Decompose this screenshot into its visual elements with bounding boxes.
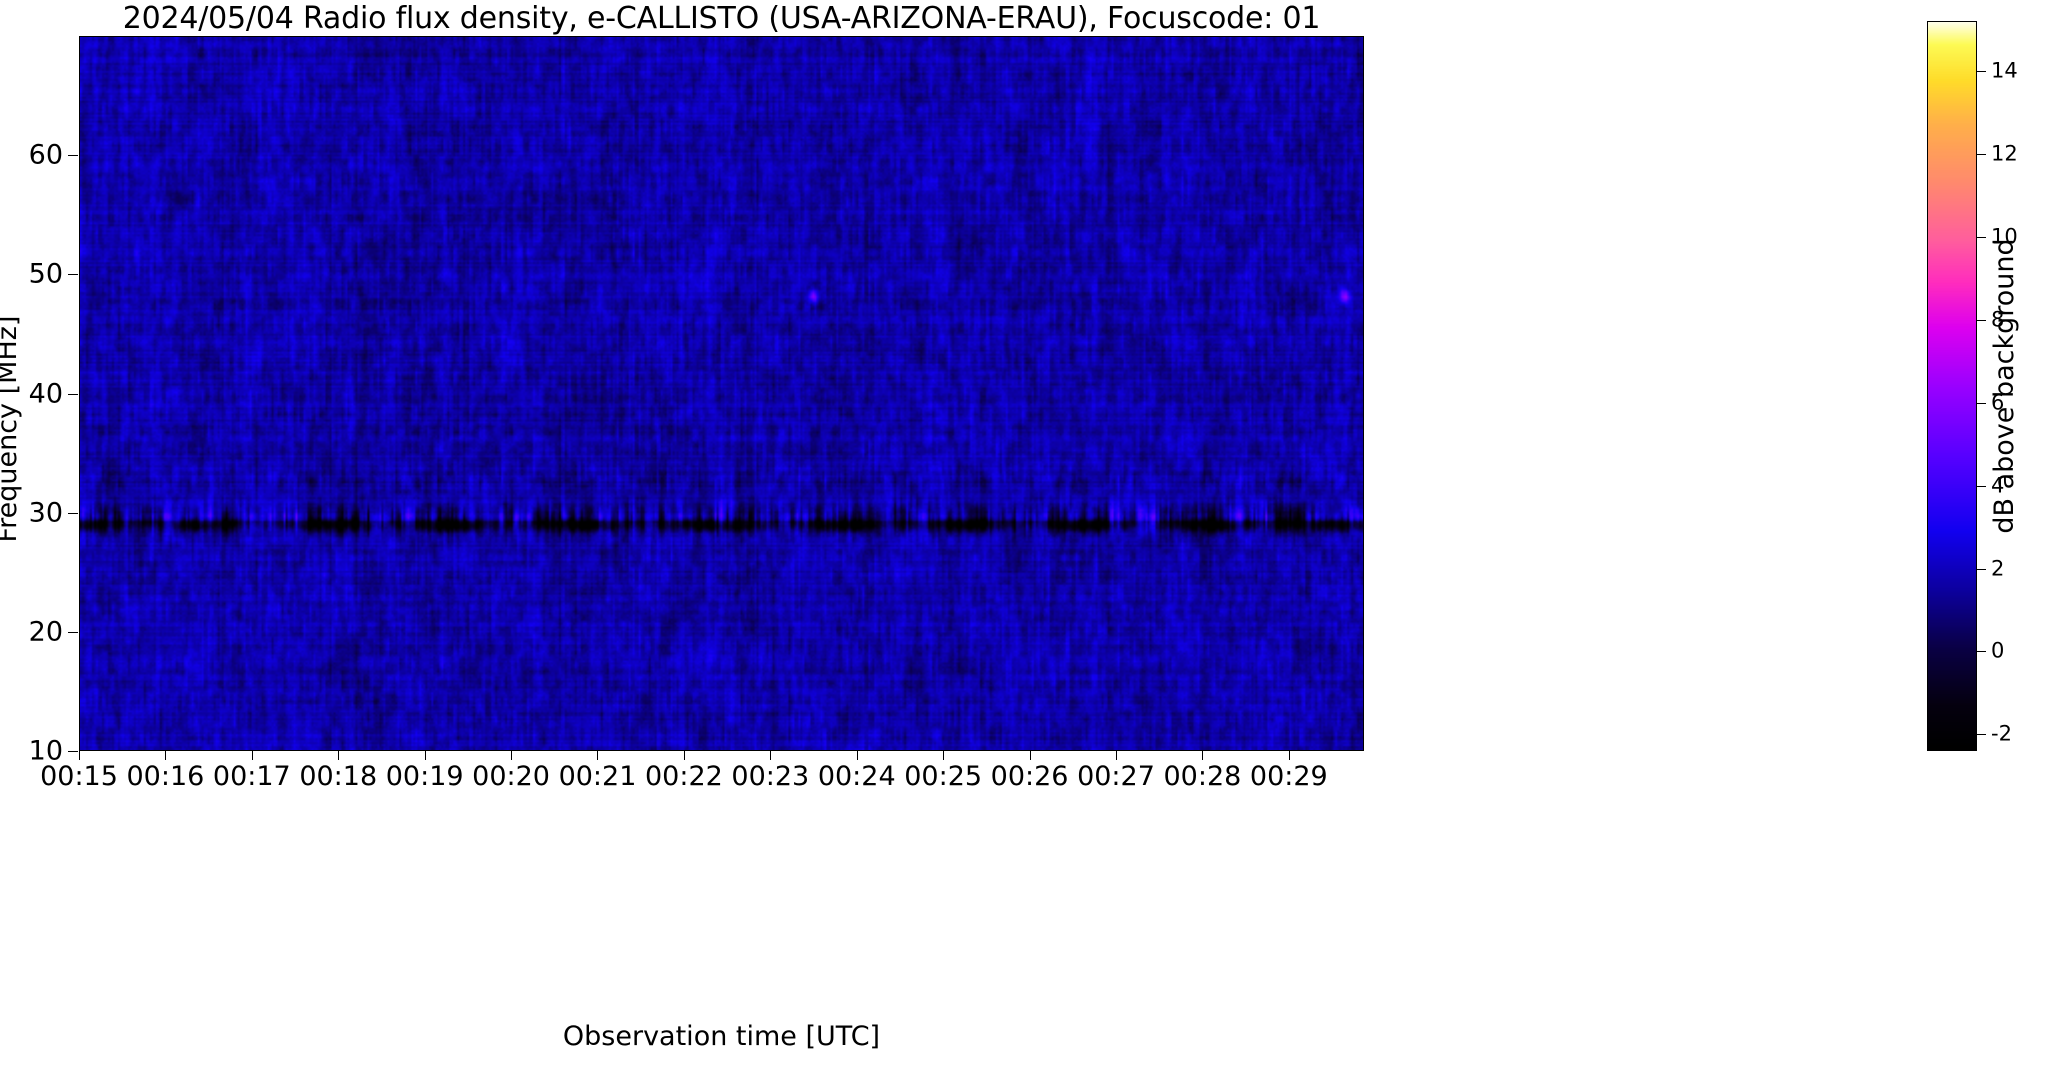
- spectrogram-plot-area[interactable]: [79, 36, 1364, 751]
- colorbar-tick: [1977, 403, 1986, 404]
- y-axis-tick: [68, 394, 78, 395]
- x-axis-tick: [597, 751, 598, 760]
- x-axis-tick: [943, 751, 944, 760]
- x-axis-tick-label: 00:28: [1163, 762, 1241, 792]
- x-axis-tick-label: 00:23: [731, 762, 809, 792]
- colorbar-tick: [1977, 71, 1986, 72]
- colorbar-label: dB above background: [1989, 238, 2020, 533]
- x-axis-tick: [1030, 751, 1031, 760]
- x-axis-tick-label: 00:18: [299, 762, 377, 792]
- x-axis-tick: [425, 751, 426, 760]
- y-axis-tick: [68, 632, 78, 633]
- x-axis-tick-label: 00:15: [40, 762, 118, 792]
- x-axis-tick: [165, 751, 166, 760]
- x-axis-tick: [1202, 751, 1203, 760]
- y-axis-tick-label: 60: [29, 142, 63, 169]
- x-axis-tick: [857, 751, 858, 760]
- spectrogram-image: [80, 37, 1363, 750]
- x-axis-tick: [338, 751, 339, 760]
- page-title: 2024/05/04 Radio flux density, e-CALLIST…: [79, 2, 1364, 36]
- x-axis-tick: [684, 751, 685, 760]
- x-axis-tick-label: 00:16: [127, 762, 205, 792]
- y-axis-tick: [68, 513, 78, 514]
- colorbar-tick-label: 14: [1991, 60, 2018, 81]
- colorbar-tick-label: 12: [1991, 143, 2018, 164]
- x-axis-tick: [252, 751, 253, 760]
- y-axis-label: Frequency [MHz]: [0, 316, 23, 543]
- y-axis-tick: [68, 274, 78, 275]
- x-axis-tick-label: 00:19: [386, 762, 464, 792]
- x-axis-tick: [511, 751, 512, 760]
- y-axis-tick: [68, 155, 78, 156]
- x-axis-tick-label: 00:17: [213, 762, 291, 792]
- colorbar-tick: [1977, 320, 1986, 321]
- colorbar-tick: [1977, 651, 1986, 652]
- x-axis-tick: [1116, 751, 1117, 760]
- spectrogram-figure: 2024/05/04 Radio flux density, e-CALLIST…: [0, 0, 2047, 1067]
- colorbar-tick: [1977, 486, 1986, 487]
- colorbar[interactable]: 14121086420-2: [1927, 21, 1977, 751]
- y-axis: Frequency [MHz] 605040302010: [0, 36, 79, 751]
- colorbar-tick: [1977, 734, 1986, 735]
- colorbar-gradient: [1927, 21, 1977, 751]
- colorbar-tick: [1977, 237, 1986, 238]
- x-axis-tick-label: 00:24: [818, 762, 896, 792]
- x-axis-tick-label: 00:22: [645, 762, 723, 792]
- colorbar-tick-label: 2: [1991, 558, 2004, 579]
- x-axis-tick-label: 00:29: [1250, 762, 1328, 792]
- x-axis-tick-label: 00:26: [991, 762, 1069, 792]
- y-axis-tick-label: 40: [29, 380, 63, 407]
- x-axis-tick-label: 00:21: [559, 762, 637, 792]
- colorbar-tick: [1977, 154, 1986, 155]
- x-axis-tick-label: 00:27: [1077, 762, 1155, 792]
- x-axis-tick: [1289, 751, 1290, 760]
- x-axis: 00:1500:1600:1700:1800:1900:2000:2100:22…: [0, 751, 1420, 811]
- colorbar-tick-label: 0: [1991, 641, 2004, 662]
- colorbar-tick: [1977, 569, 1986, 570]
- y-axis-tick-label: 50: [29, 261, 63, 288]
- y-axis-tick-label: 30: [29, 499, 63, 526]
- x-axis-tick-label: 00:25: [904, 762, 982, 792]
- x-axis-tick-label: 00:20: [472, 762, 550, 792]
- x-axis-label: Observation time [UTC]: [79, 1022, 1364, 1052]
- y-axis-tick-label: 20: [29, 618, 63, 645]
- x-axis-tick: [770, 751, 771, 760]
- colorbar-image: [1928, 22, 1976, 750]
- x-axis-tick: [79, 751, 80, 760]
- colorbar-tick-label: -2: [1991, 724, 2012, 745]
